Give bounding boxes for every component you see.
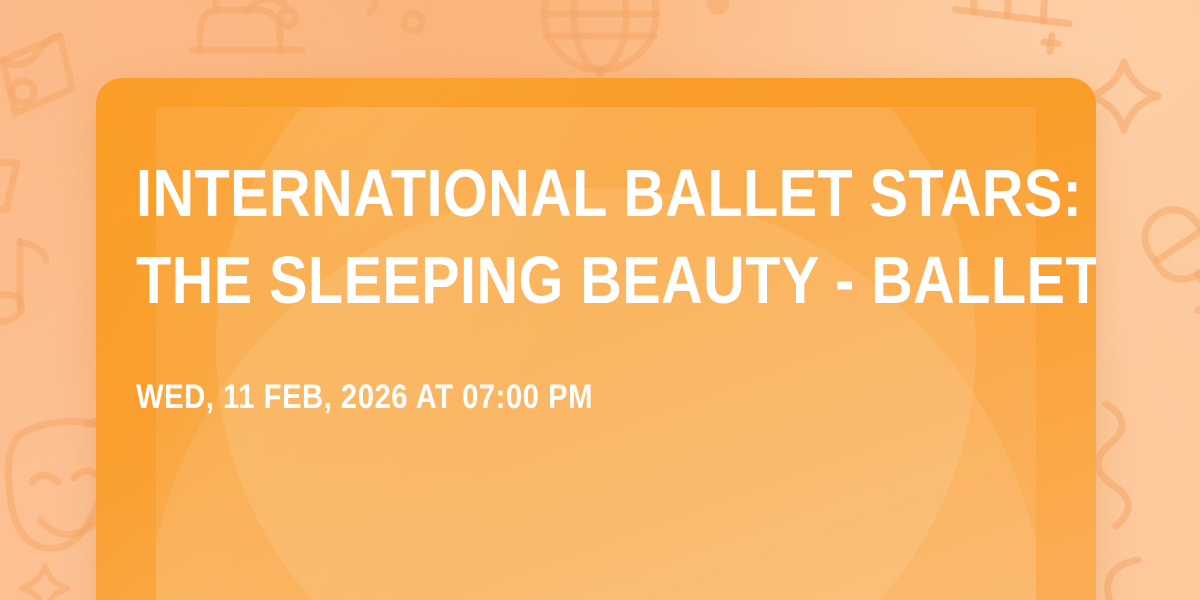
ticket-icon bbox=[0, 154, 17, 216]
ribbon-icon bbox=[1098, 404, 1129, 526]
stage-lights-icon bbox=[192, 0, 302, 50]
event-title-line-2: THE SLEEPING BEAUTY - BALLET bbox=[136, 247, 910, 314]
ribbon-icon bbox=[1108, 560, 1142, 600]
sparkle-icon bbox=[1090, 62, 1158, 130]
event-card: INTERNATIONAL BALLET STARS: THE SLEEPING… bbox=[96, 78, 1096, 600]
sparkle-icon bbox=[22, 566, 68, 600]
ticket-icon bbox=[0, 36, 78, 114]
event-poster: INTERNATIONAL BALLET STARS: THE SLEEPING… bbox=[0, 0, 1200, 600]
microphone-icon bbox=[1134, 199, 1200, 315]
confetti-dot-icon bbox=[707, 0, 729, 15]
event-card-content: INTERNATIONAL BALLET STARS: THE SLEEPING… bbox=[136, 160, 1036, 414]
confetti-dot-icon bbox=[404, 13, 422, 31]
event-title-line-1: INTERNATIONAL BALLET STARS: bbox=[136, 160, 910, 227]
event-datetime: WED, 11 FEB, 2026 AT 07:00 PM bbox=[136, 314, 910, 414]
stage-lights-icon bbox=[951, 0, 1074, 55]
event-title: INTERNATIONAL BALLET STARS: THE SLEEPING… bbox=[136, 160, 910, 314]
music-note-icon bbox=[0, 242, 46, 325]
confetti-dot-icon bbox=[370, 0, 376, 12]
